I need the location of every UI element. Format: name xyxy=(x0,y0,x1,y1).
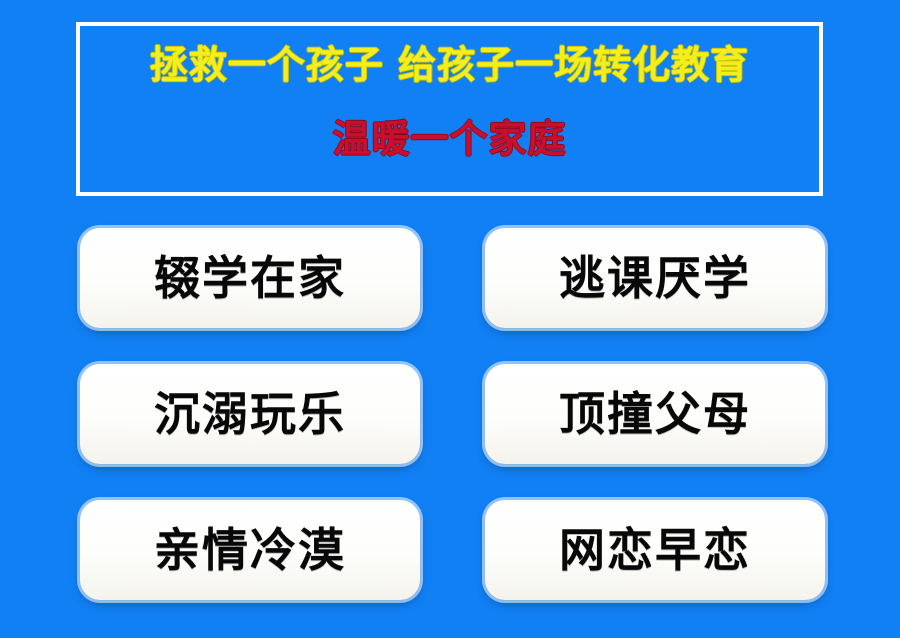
issue-card-grid: 辍学在家 逃课厌学 沉溺玩乐 顶撞父母 亲情冷漠 网恋早恋 xyxy=(80,228,825,600)
headline-primary-text: 拯救一个孩子 给孩子一场转化教育 xyxy=(150,44,749,88)
issue-card-dropout-at-home[interactable]: 辍学在家 xyxy=(80,228,420,328)
issue-card-label: 沉溺玩乐 xyxy=(154,391,346,437)
issue-card-skipping-class[interactable]: 逃课厌学 xyxy=(485,228,825,328)
issue-card-label: 顶撞父母 xyxy=(559,391,751,437)
issue-card-emotional-coldness[interactable]: 亲情冷漠 xyxy=(80,500,420,600)
poster-canvas: 拯救一个孩子 给孩子一场转化教育 温暖一个家庭 辍学在家 逃课厌学 沉溺玩乐 顶… xyxy=(0,0,900,638)
issue-card-label: 亲情冷漠 xyxy=(154,527,346,573)
issue-card-online-early-romance[interactable]: 网恋早恋 xyxy=(485,500,825,600)
issue-card-defying-parents[interactable]: 顶撞父母 xyxy=(485,364,825,464)
issue-card-label: 逃课厌学 xyxy=(559,255,751,301)
issue-card-label: 网恋早恋 xyxy=(559,527,751,573)
headline-secondary-text: 温暖一个家庭 xyxy=(332,118,566,162)
issue-card-label: 辍学在家 xyxy=(154,255,346,301)
issue-card-indulging-in-play[interactable]: 沉溺玩乐 xyxy=(80,364,420,464)
headline-frame: 拯救一个孩子 给孩子一场转化教育 温暖一个家庭 xyxy=(76,22,823,196)
